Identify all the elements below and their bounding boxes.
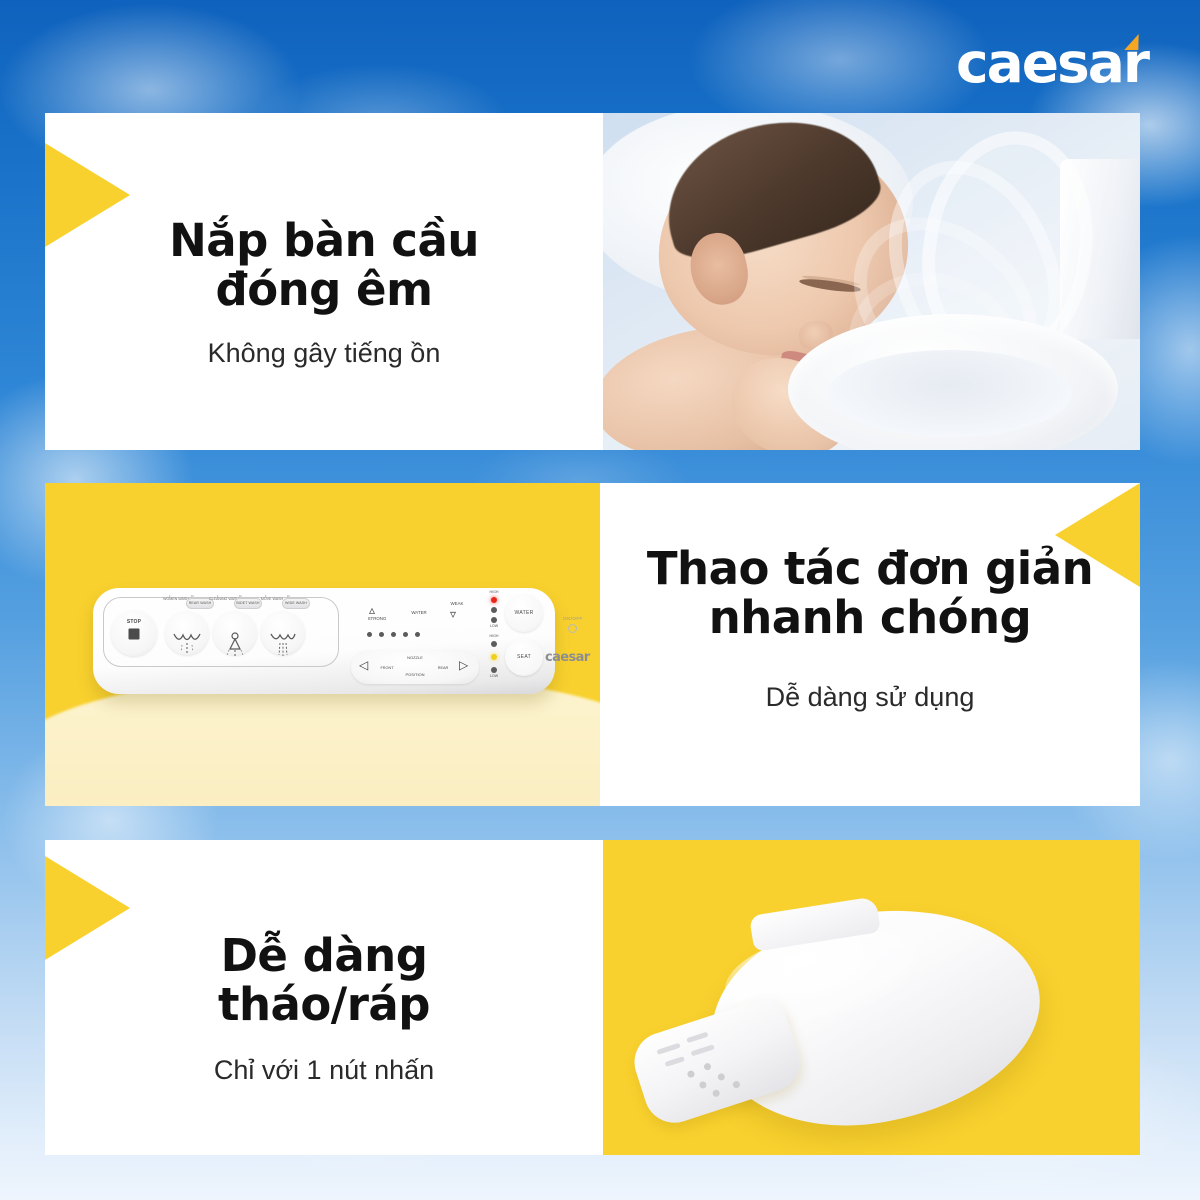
feature-panel-easy-install: Dễ dàng tháo/ráp Chỉ với 1 nút nhấn — [45, 840, 1140, 1155]
nozzle-front-label: FRONT — [367, 666, 407, 670]
panel-3-text-half: Dễ dàng tháo/ráp Chỉ với 1 nút nhấn — [45, 840, 603, 1155]
panel-2-headline-line-1: Thao tác đơn giản — [600, 545, 1140, 594]
seat-temp-button[interactable]: SEAT — [505, 638, 543, 676]
panel-3-headline: Dễ dàng tháo/ráp — [45, 932, 603, 1029]
side-panel-label-shape — [686, 1032, 708, 1044]
water-temp-led-mid — [491, 607, 497, 613]
control-panel-right-cluster: ▵ STRONG WATER WEAK ▿ ◁ FRONT — [351, 594, 549, 688]
side-panel-button-icon — [699, 1081, 708, 1090]
rear-wash-icon — [172, 631, 202, 657]
bidet-seat-product-photo: Nắp bàn cầu thông minh Caesar màu trắng — [603, 840, 1140, 1155]
function-3-mark-single: • — [265, 593, 266, 598]
side-panel-button-icon — [687, 1070, 696, 1079]
side-panel-label-shape — [691, 1044, 715, 1056]
bidet-control-panel: STOP WOMEN WASH • •• REAR WASH CLEANING … — [93, 588, 555, 694]
feature-panel-soft-close: Nắp bàn cầu đóng êm Không gây tiếng ồn E… — [45, 113, 1140, 450]
water-pressure-center-label: WATER — [399, 610, 439, 615]
power-button-label: ON/OFF — [563, 616, 583, 621]
bidet-wash-icon — [220, 631, 250, 657]
stop-square-icon — [129, 628, 140, 639]
seat-temp-high-label: HIGH — [485, 634, 503, 638]
function-2-mark-single: • — [217, 593, 218, 598]
level-dot — [379, 632, 384, 637]
function-1-mark-single: • — [169, 593, 170, 598]
wide-wash-button[interactable] — [261, 611, 305, 655]
side-panel-button-icon — [703, 1062, 712, 1071]
panel-1-media-alt: Em bé đang ngủ bên cạnh nắp bàn cầu đang… — [603, 113, 604, 114]
control-panel-brand-logo: caesar — [545, 650, 590, 665]
nozzle-subtitle-label: POSITION — [395, 672, 435, 677]
level-dot — [367, 632, 372, 637]
feature-panel-simple-operation: STOP WOMEN WASH • •• REAR WASH CLEANING … — [45, 483, 1140, 806]
rear-wash-button[interactable] — [165, 611, 209, 655]
panel-3-subline: Chỉ với 1 nút nhấn — [45, 1055, 603, 1086]
nozzle-rear-label: REAR — [423, 666, 463, 670]
wide-wash-icon — [268, 631, 298, 657]
seat-temp-led-low — [491, 667, 497, 673]
nozzle-title-label: NOZZLE — [395, 655, 435, 660]
panel-1-headline-line-2: đóng êm — [45, 266, 603, 315]
level-dot — [415, 632, 420, 637]
panel-2-media-half: STOP WOMEN WASH • •• REAR WASH CLEANING … — [45, 483, 600, 806]
panel-3-media-alt: Nắp bàn cầu thông minh Caesar màu trắng — [603, 840, 604, 841]
side-panel-button-icon — [712, 1089, 721, 1098]
panel-1-text-stack: Nắp bàn cầu đóng êm Không gây tiếng ồn — [45, 217, 603, 369]
panel-3-headline-line-1: Dễ dàng — [45, 932, 603, 981]
side-panel-label-shape — [656, 1043, 680, 1055]
side-panel-label-shape — [665, 1056, 686, 1067]
panel-1-text-half: Nắp bàn cầu đóng êm Không gây tiếng ồn — [45, 113, 603, 450]
panel-3-media-half: Nắp bàn cầu thông minh Caesar màu trắng — [603, 840, 1140, 1155]
stop-button-label: STOP — [111, 619, 157, 625]
panel-2-text-half: Thao tác đơn giản nhanh chóng Dễ dàng sử… — [600, 483, 1140, 806]
panel-1-subline: Không gây tiếng ồn — [45, 338, 603, 369]
water-temp-high-label: HIGH — [485, 590, 503, 594]
brand-logo-text: caesar — [956, 31, 1148, 95]
power-button[interactable]: ON/OFF — [563, 616, 583, 633]
panel-3-text-stack: Dễ dàng tháo/ráp Chỉ với 1 nút nhấn — [45, 932, 603, 1086]
panel-2-text-stack: Thao tác đơn giản nhanh chóng Dễ dàng sử… — [600, 545, 1140, 713]
water-temp-led-high — [491, 597, 497, 603]
panel-2-headline-line-2: nhanh chóng — [600, 594, 1140, 643]
panel-1-headline-line-1: Nắp bàn cầu — [45, 217, 603, 266]
panel-3-headline-line-2: tháo/ráp — [45, 981, 603, 1030]
seat-temp-led-mid — [491, 654, 497, 660]
power-ring-icon — [568, 624, 577, 633]
level-dot — [391, 632, 396, 637]
side-panel-button-icon — [732, 1080, 741, 1089]
panel-1-media-half: Em bé đang ngủ bên cạnh nắp bàn cầu đang… — [603, 113, 1140, 450]
water-pressure-level-indicator — [367, 632, 420, 637]
control-panel-photo: STOP WOMEN WASH • •• REAR WASH CLEANING … — [45, 483, 600, 806]
seat-temp-low-label: LOW — [485, 674, 503, 678]
panel-2-headline: Thao tác đơn giản nhanh chóng — [600, 545, 1140, 642]
panel-1-headline: Nắp bàn cầu đóng êm — [45, 217, 603, 314]
water-temp-button[interactable]: WATER — [505, 594, 543, 632]
panel-2-subline: Dễ dàng sử dụng — [600, 682, 1140, 713]
seat-temp-led-high — [491, 641, 497, 647]
level-dot — [403, 632, 408, 637]
caesar-logo: caesar — [956, 36, 1148, 91]
bidet-wash-button[interactable] — [213, 611, 257, 655]
water-temp-led-low — [491, 617, 497, 623]
water-pressure-down-label: WEAK — [437, 601, 477, 606]
panel-2-media-alt: Bảng điều khiển nắp bàn cầu thông minh C… — [45, 483, 46, 484]
stop-button[interactable]: STOP — [111, 610, 157, 656]
water-pressure-up-label: STRONG — [357, 616, 397, 621]
chevron-right-icon[interactable]: ▷ — [459, 659, 468, 671]
nozzle-position-button[interactable]: ◁ FRONT NOZZLE POSITION REAR ▷ — [351, 650, 479, 684]
chevron-up-icon[interactable]: ▵ — [369, 604, 375, 616]
side-panel-button-icon — [717, 1072, 726, 1081]
water-temp-low-label: LOW — [485, 624, 503, 628]
sleeping-baby-photo: Em bé đang ngủ bên cạnh nắp bàn cầu đang… — [603, 113, 1140, 450]
function-3-pill-label[interactable]: WIDE WASH — [282, 598, 310, 609]
chevron-down-icon[interactable]: ▿ — [450, 608, 456, 620]
